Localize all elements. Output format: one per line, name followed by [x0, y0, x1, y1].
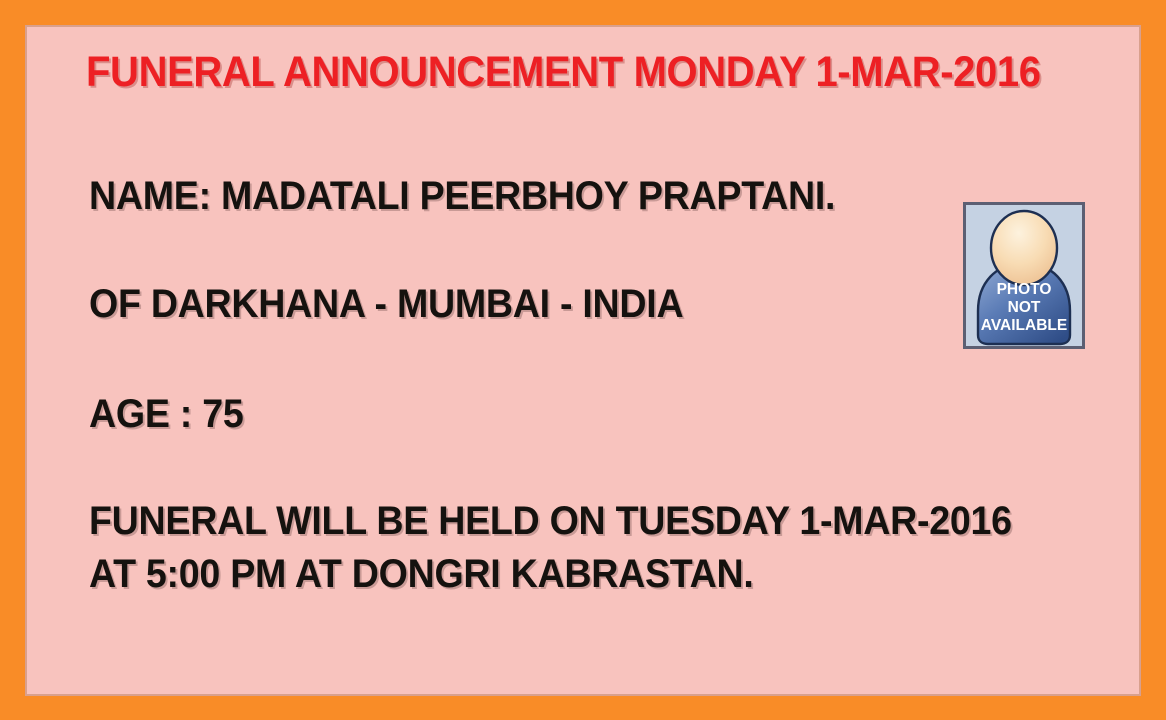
- person-silhouette-icon: PHOTO NOT AVAILABLE: [966, 205, 1082, 346]
- page-title: FUNERAL ANNOUNCEMENT MONDAY 1-MAR-2016: [86, 50, 1016, 94]
- funeral-details-line-1: FUNERAL WILL BE HELD ON TUESDAY 1-MAR-20…: [89, 500, 1012, 542]
- poster-inner-panel: FUNERAL ANNOUNCEMENT MONDAY 1-MAR-2016 N…: [25, 25, 1141, 696]
- photo-unavailable-text-line-1: PHOTO: [997, 281, 1052, 298]
- photo-unavailable-text-line-3: AVAILABLE: [981, 317, 1067, 334]
- deceased-place-line: OF DARKHANA - MUMBAI - INDIA: [89, 283, 683, 325]
- funeral-details-line-2: AT 5:00 PM AT DONGRI KABRASTAN.: [89, 553, 754, 595]
- deceased-name-line: NAME: MADATALI PEERBHOY PRAPTANI.: [89, 175, 835, 217]
- photo-unavailable-text-line-2: NOT: [1008, 299, 1041, 316]
- photo-not-available-placeholder: PHOTO NOT AVAILABLE: [963, 202, 1085, 349]
- silhouette-head: [991, 211, 1057, 285]
- deceased-age-line: AGE : 75: [89, 393, 243, 435]
- funeral-announcement-poster: FUNERAL ANNOUNCEMENT MONDAY 1-MAR-2016 N…: [0, 0, 1166, 720]
